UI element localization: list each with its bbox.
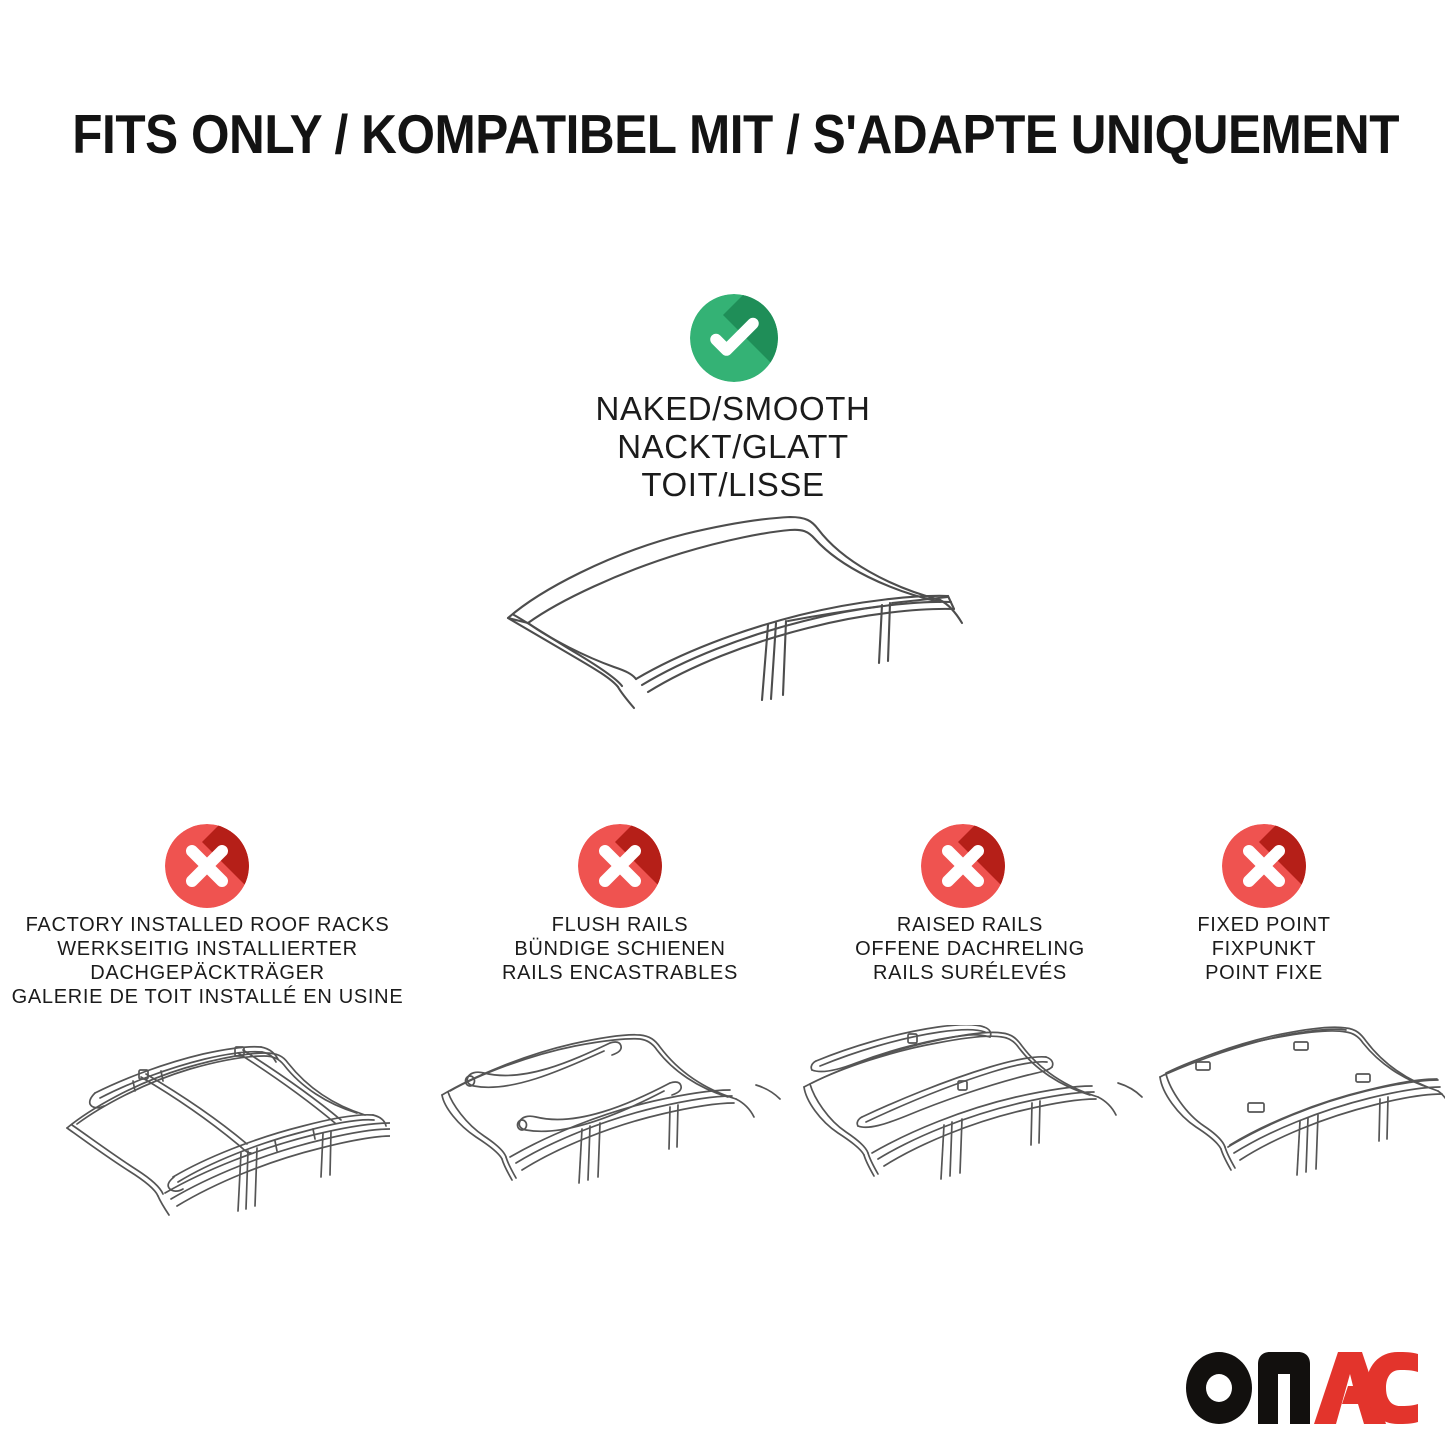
compatible-caption: NAKED/SMOOTH NACKT/GLATT TOIT/LISSE	[473, 390, 993, 504]
caption-factory-installed-roof-racks: FACTORY INSTALLED ROOF RACKS WERKSEITIG …	[0, 913, 415, 1009]
cross-glyph	[578, 824, 662, 908]
caption-line-1: RAISED RAILS	[790, 913, 1150, 937]
car-roof-factory-racks-illustration	[45, 1025, 390, 1240]
page-title: FITS ONLY / KOMPATIBEL MIT / S'ADAPTE UN…	[72, 103, 1373, 165]
compatible-line-2: NACKT/GLATT	[473, 428, 993, 466]
caption-line-4: GALERIE DE TOIT INSTALLÉ EN USINE	[0, 985, 415, 1009]
red-cross-circle-icon	[165, 824, 249, 908]
omac-logo-mark	[1186, 1352, 1418, 1424]
caption-line-3: DACHGEPÄCKTRÄGER	[0, 961, 415, 985]
car-roof-naked-smooth-illustration	[470, 495, 990, 760]
compatible-line-1: NAKED/SMOOTH	[473, 390, 993, 428]
green-check-circle-icon	[690, 294, 778, 382]
caption-line-2: FIXPUNKT	[1114, 937, 1414, 961]
red-cross-circle-icon	[578, 824, 662, 908]
caption-line-3: RAILS ENCASTRABLES	[420, 961, 820, 985]
car-roof-raised-rails-illustration	[792, 1025, 1144, 1240]
caption-line-1: FACTORY INSTALLED ROOF RACKS	[0, 913, 415, 937]
caption-fixed-point: FIXED POINT FIXPUNKT POINT FIXE	[1114, 913, 1414, 985]
omac-logo	[1186, 1352, 1418, 1424]
red-cross-circle-icon	[1222, 824, 1306, 908]
caption-line-1: FIXED POINT	[1114, 913, 1414, 937]
caption-line-1: FLUSH RAILS	[420, 913, 820, 937]
logo-letter-o	[1186, 1352, 1252, 1424]
cross-glyph	[165, 824, 249, 908]
caption-line-2: WERKSEITIG INSTALLIERTER	[0, 937, 415, 961]
caption-line-3: POINT FIXE	[1114, 961, 1414, 985]
check-glyph	[690, 294, 778, 382]
car-roof-flush-rails-illustration	[432, 1025, 782, 1240]
cross-glyph	[921, 824, 1005, 908]
fitment-infographic: FITS ONLY / KOMPATIBEL MIT / S'ADAPTE UN…	[0, 0, 1445, 1445]
logo-letter-m	[1258, 1352, 1310, 1424]
caption-line-2: OFFENE DACHRELING	[790, 937, 1150, 961]
cross-glyph	[1222, 824, 1306, 908]
caption-line-2: BÜNDIGE SCHIENEN	[420, 937, 820, 961]
car-roof-fixed-point-illustration	[1152, 1025, 1445, 1240]
caption-raised-rails: RAISED RAILS OFFENE DACHRELING RAILS SUR…	[790, 913, 1150, 985]
red-cross-circle-icon	[921, 824, 1005, 908]
caption-flush-rails: FLUSH RAILS BÜNDIGE SCHIENEN RAILS ENCAS…	[420, 913, 820, 985]
caption-line-3: RAILS SURÉLEVÉS	[790, 961, 1150, 985]
